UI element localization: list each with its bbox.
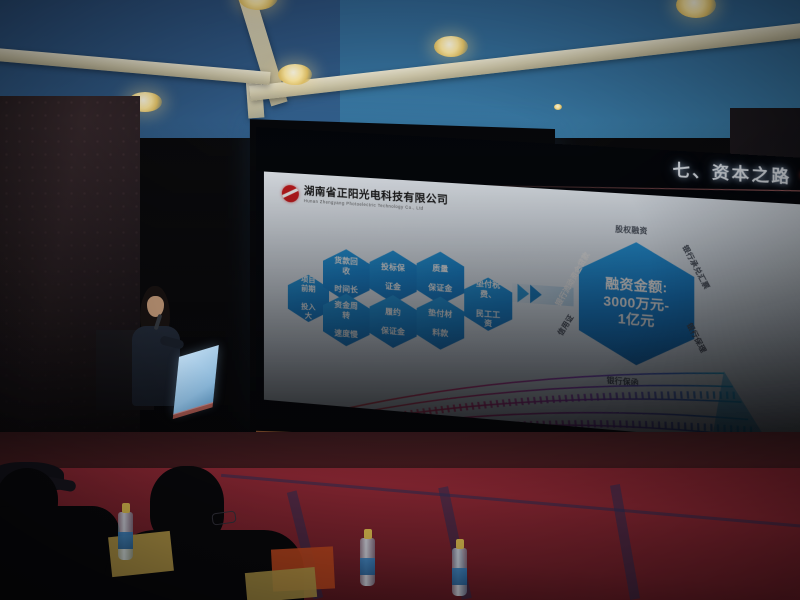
logo-mark-icon: [282, 185, 299, 203]
conference-room-photo: 七、资本之路 湖南省正阳光电科技有限公司 Hunan Zhengyang Pho…: [0, 0, 800, 600]
handout-papers: [245, 567, 317, 600]
chevron-right-icon: [530, 285, 542, 304]
bottle-label: [118, 532, 133, 549]
water-bottle: [452, 548, 467, 596]
hex-pain-point: 项目前期投入大: [288, 273, 329, 323]
fan-svg: [264, 328, 800, 448]
hex-pain-point: 垫付税费、民工工资: [464, 276, 512, 333]
audience-body: [0, 506, 120, 600]
slide-content: 湖南省正阳光电科技有限公司 Hunan Zhengyang Photoelect…: [264, 171, 800, 447]
channel-label-bottom-left: 信用证: [556, 313, 577, 338]
section-title: 七、资本之路: [672, 156, 791, 188]
lit-document: [173, 345, 219, 415]
chevron-right-icon: [518, 284, 530, 303]
decorative-fan-graphic: [264, 328, 800, 448]
bottle-label: [452, 568, 467, 585]
water-bottle: [118, 512, 133, 560]
water-bottle: [360, 538, 375, 586]
financing-line-3: 1亿元: [618, 311, 655, 331]
ceiling-spot-icon: [554, 104, 562, 110]
downlight-icon: [278, 64, 312, 85]
channel-label-top: 股权融资: [615, 224, 647, 237]
downlight-icon: [434, 36, 468, 57]
company-logo: 湖南省正阳光电科技有限公司 Hunan Zhengyang Photoelect…: [282, 185, 448, 213]
bottle-label: [360, 558, 375, 575]
financing-amount-hex: 融资金额: 3000万元- 1亿元: [579, 238, 694, 369]
